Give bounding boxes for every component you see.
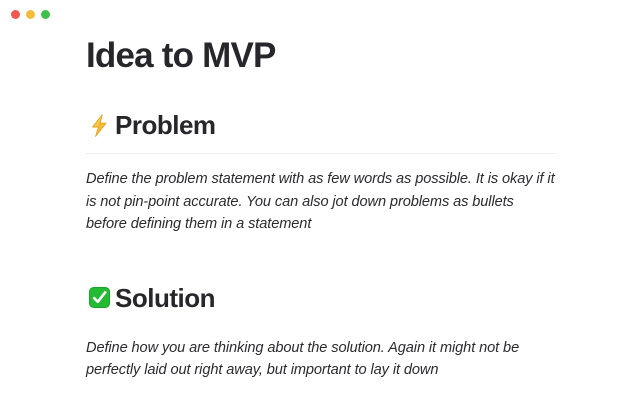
high-voltage-icon <box>86 112 113 139</box>
section-solution: Solution Define how you are thinking abo… <box>86 283 556 382</box>
section-solution-heading[interactable]: Solution <box>86 283 556 313</box>
section-problem-title: Problem <box>115 110 216 140</box>
section-solution-body[interactable]: Define how you are thinking about the so… <box>86 337 556 382</box>
section-solution-title: Solution <box>115 283 215 313</box>
check-mark-button-icon <box>86 284 113 311</box>
section-problem-body[interactable]: Define the problem statement with as few… <box>86 168 556 236</box>
section-problem: Problem Define the problem statement wit… <box>86 110 556 236</box>
document-canvas[interactable]: Idea to MVP Problem Define the problem s… <box>86 30 556 382</box>
section-problem-heading[interactable]: Problem <box>86 110 556 140</box>
minimize-window-button[interactable] <box>26 10 35 19</box>
section-problem-divider <box>86 153 556 154</box>
page-title[interactable]: Idea to MVP <box>86 30 556 76</box>
maximize-window-button[interactable] <box>41 10 50 19</box>
app-window: Idea to MVP Problem Define the problem s… <box>0 0 640 400</box>
close-window-button[interactable] <box>11 10 20 19</box>
window-titlebar <box>0 0 640 28</box>
